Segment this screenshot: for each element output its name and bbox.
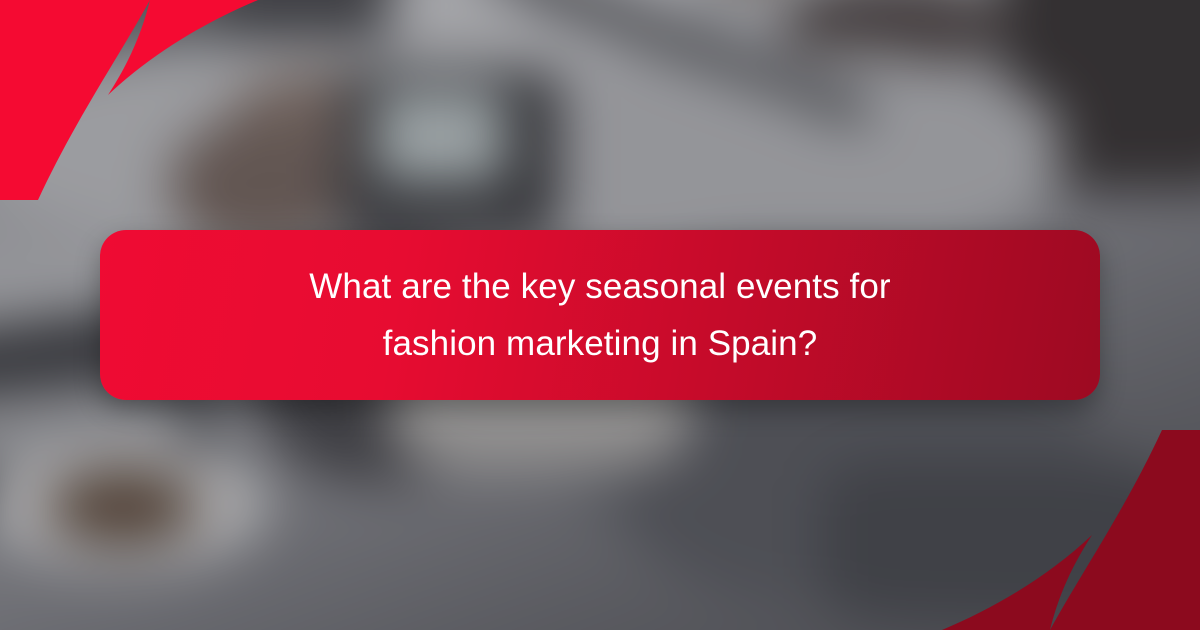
title-banner: What are the key seasonal events for fas… bbox=[100, 230, 1100, 400]
page-title: What are the key seasonal events for fas… bbox=[250, 258, 950, 372]
social-share-card: What are the key seasonal events for fas… bbox=[0, 0, 1200, 630]
